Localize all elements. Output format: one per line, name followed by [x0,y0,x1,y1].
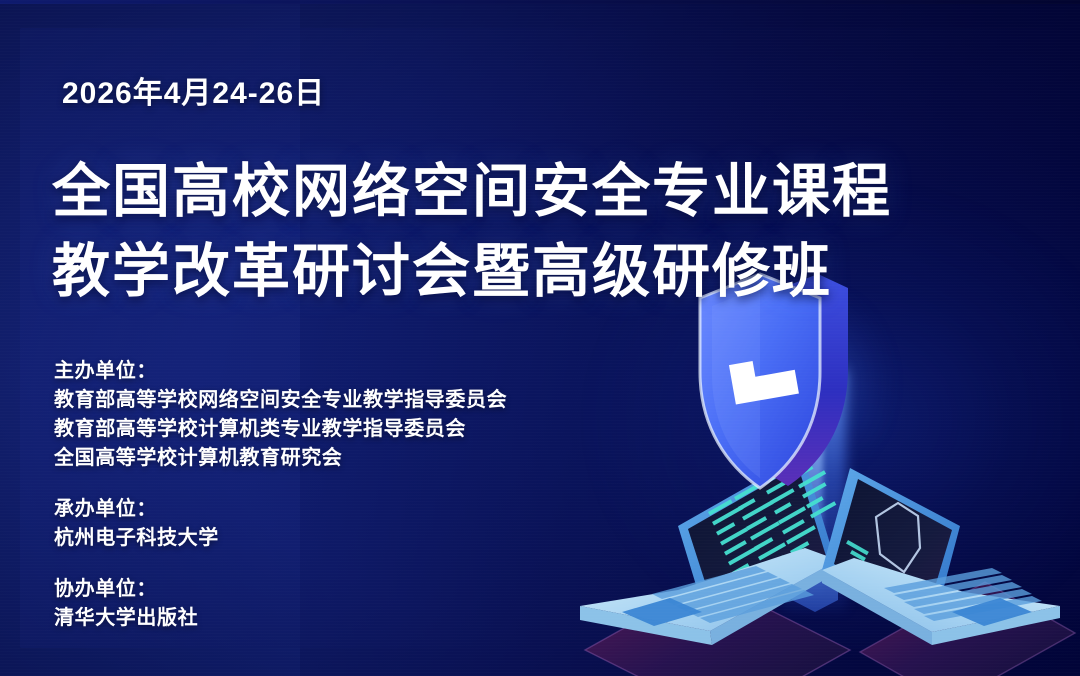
organizer-item: 杭州电子科技大学 [54,524,634,553]
organizer-label-undertaker: 承办单位： [54,495,634,524]
organizer-item: 清华大学出版社 [54,604,634,633]
event-date: 2026年4月24-26日 [62,68,325,112]
title-line-1: 全国高校网络空间安全专业课程 [52,152,952,232]
organizer-label-coorganizer: 协办单位： [54,575,634,604]
organizer-list: 主办单位： 教育部高等学校网络空间安全专业教学指导委员会 教育部高等学校计算机类… [54,357,634,633]
event-title: 全国高校网络空间安全专业课程 教学改革研讨会暨高级研修班 [52,152,952,312]
title-line-2: 教学改革研讨会暨高级研修班 [52,232,952,312]
organizer-group-undertaker: 承办单位： 杭州电子科技大学 [54,495,634,553]
organizer-group-coorganizer: 协办单位： 清华大学出版社 [54,575,634,633]
organizer-label-host: 主办单位： [54,357,634,386]
text-column: 2026年4月24-26日 全国高校网络空间安全专业课程 教学改革研讨会暨高级研… [52,0,692,676]
laptop-shield-screen [822,468,1060,645]
conference-poster: 2026年4月24-26日 全国高校网络空间安全专业课程 教学改革研讨会暨高级研… [0,0,1080,676]
organizer-item: 教育部高等学校网络空间安全专业教学指导委员会 [54,386,634,415]
organizer-group-host: 主办单位： 教育部高等学校网络空间安全专业教学指导委员会 教育部高等学校计算机类… [54,357,634,473]
organizer-item: 全国高等学校计算机教育研究会 [54,444,634,473]
organizer-item: 教育部高等学校计算机类专业教学指导委员会 [54,415,634,444]
